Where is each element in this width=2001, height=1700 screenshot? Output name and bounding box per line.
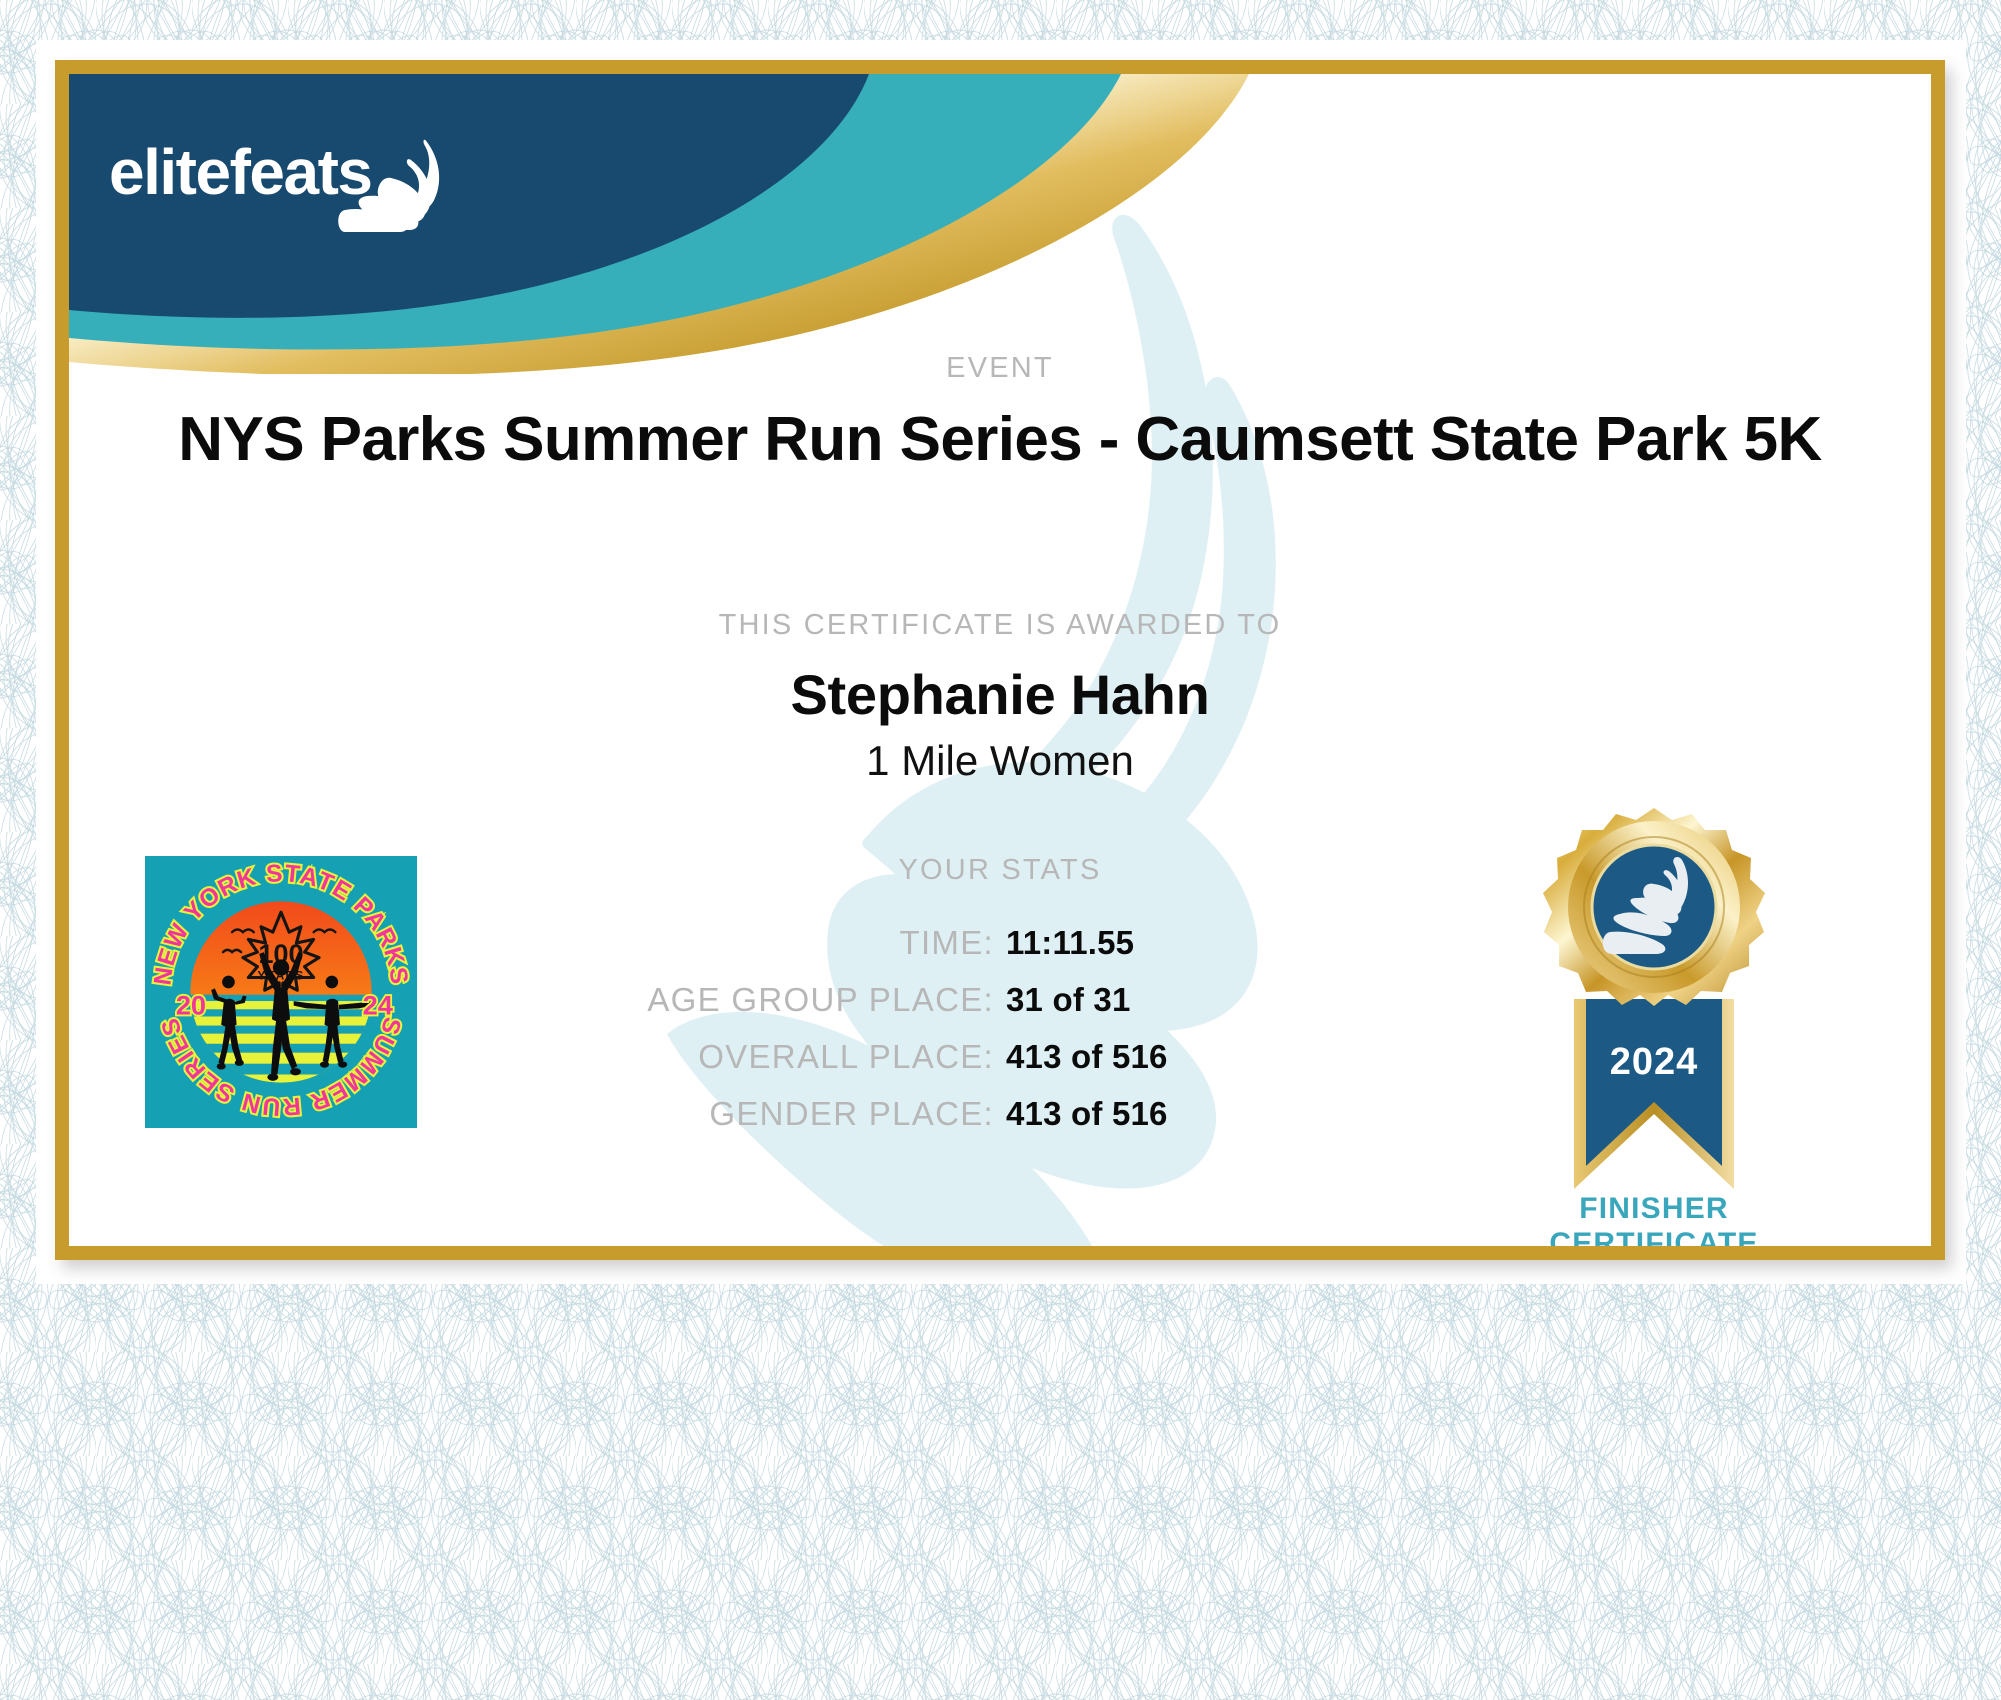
stat-key-gender-place: GENDER PLACE: bbox=[394, 1095, 994, 1133]
finisher-medal: 2024 FINISHER CERTIFICATE bbox=[1514, 794, 1854, 1246]
finisher-caption-line2: CERTIFICATE bbox=[1494, 1227, 1814, 1247]
finisher-caption: FINISHER CERTIFICATE bbox=[1494, 1192, 1814, 1246]
event-title: NYS Parks Summer Run Series - Caumsett S… bbox=[69, 404, 1931, 475]
recipient-division: 1 Mile Women bbox=[69, 737, 1931, 785]
stat-key-overall-place: OVERALL PLACE: bbox=[394, 1038, 994, 1076]
certificate-page: elitefeats EVENT NYS Parks Summer Run Se… bbox=[0, 0, 2001, 1700]
stat-key-time: TIME: bbox=[394, 924, 994, 962]
elitefeats-logo: elitefeats bbox=[109, 124, 469, 234]
recipient-name: Stephanie Hahn bbox=[69, 662, 1931, 727]
brand-wordmark: elitefeats bbox=[109, 136, 371, 208]
medal-graphic: 2024 bbox=[1514, 794, 1794, 1194]
logo-year-right: 24 bbox=[363, 990, 393, 1021]
logo-year-left: 20 bbox=[176, 990, 206, 1021]
certificate-card: elitefeats EVENT NYS Parks Summer Run Se… bbox=[55, 60, 1945, 1260]
event-label: EVENT bbox=[69, 352, 1931, 385]
awarded-to-label: THIS CERTIFICATE IS AWARDED TO bbox=[69, 609, 1931, 642]
event-logo-image: 100 YEARS bbox=[145, 856, 417, 1128]
finisher-caption-line1: FINISHER bbox=[1494, 1192, 1814, 1227]
stat-key-age-group-place: AGE GROUP PLACE: bbox=[394, 981, 994, 1019]
medal-year: 2024 bbox=[1610, 1041, 1699, 1083]
